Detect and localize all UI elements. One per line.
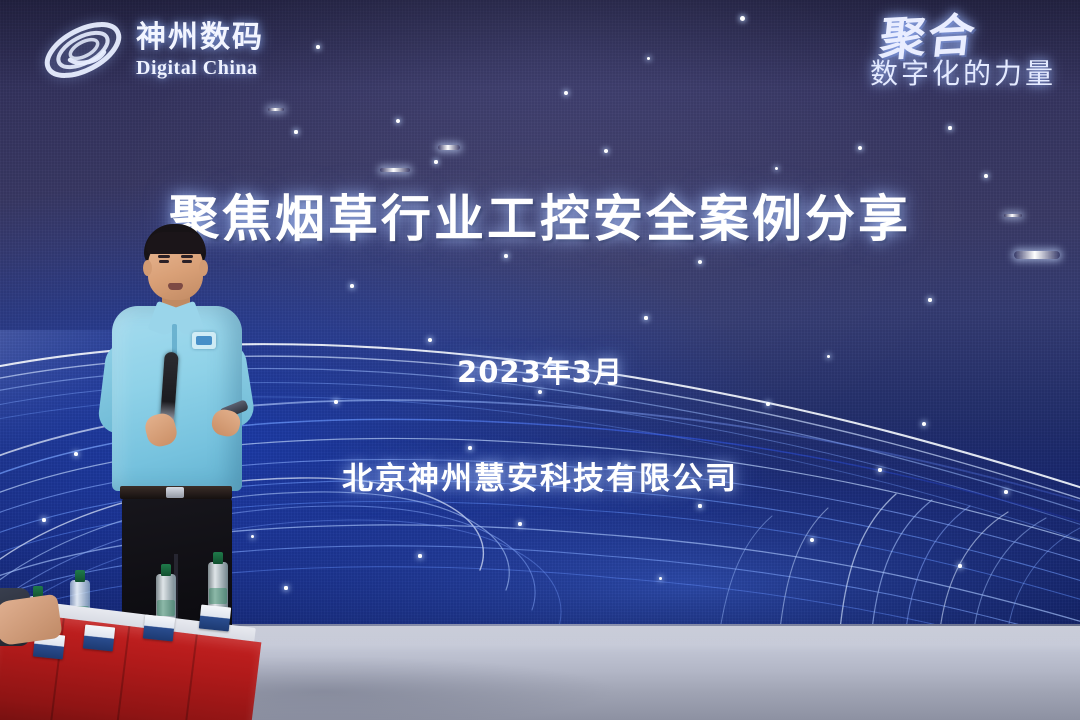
presenter-eyebrow-right [181, 255, 193, 258]
light-particle [434, 160, 437, 163]
event-logo-calligraphy: 聚合 [877, 14, 978, 63]
light-particle [647, 57, 650, 60]
light-particle [294, 130, 297, 133]
light-streak [1014, 251, 1060, 259]
presenter-eyebrow-left [158, 255, 170, 258]
chest-logo-icon [192, 332, 216, 349]
presenter-ear-left [143, 260, 152, 276]
screenshot-root: 神州数码 Digital China 聚合 数字化的力量 聚焦烟草行业工控安全案… [0, 0, 1080, 720]
skirt-fold [114, 626, 131, 720]
presenter-ear-right [199, 260, 208, 276]
belt-buckle [166, 487, 184, 498]
light-particle [644, 316, 647, 319]
light-particle [948, 126, 951, 129]
light-streak [438, 145, 460, 150]
presenter-mouth [168, 283, 183, 290]
light-particle [396, 119, 400, 123]
spiral-swirl-icon [40, 18, 126, 82]
light-streak [380, 168, 410, 172]
brand-name-en: Digital China [136, 58, 264, 78]
light-particle [858, 146, 862, 150]
brand-name-cn: 神州数码 [136, 23, 264, 53]
light-particle [928, 298, 931, 301]
name-card [143, 614, 175, 641]
light-particle [504, 254, 507, 257]
light-particle [775, 167, 778, 170]
light-particle [316, 45, 320, 49]
presenter-eye-right [182, 260, 192, 263]
presenter-fringe [146, 232, 205, 254]
event-logo: 聚合 数字化的力量 [870, 16, 1056, 92]
light-particle [740, 16, 745, 21]
light-particle [350, 284, 354, 288]
presenter-polo-shirt [112, 306, 242, 491]
light-particle [698, 260, 702, 264]
name-card [83, 624, 115, 651]
light-streak [268, 108, 284, 111]
light-particle [984, 174, 988, 178]
seated-attendee-arm [0, 594, 63, 646]
digital-china-logo: 神州数码 Digital China [40, 18, 264, 82]
skirt-fold [181, 634, 198, 720]
light-particle [564, 91, 568, 95]
name-card [199, 604, 231, 631]
light-particle [604, 149, 608, 153]
presenter-eye-left [159, 260, 169, 263]
